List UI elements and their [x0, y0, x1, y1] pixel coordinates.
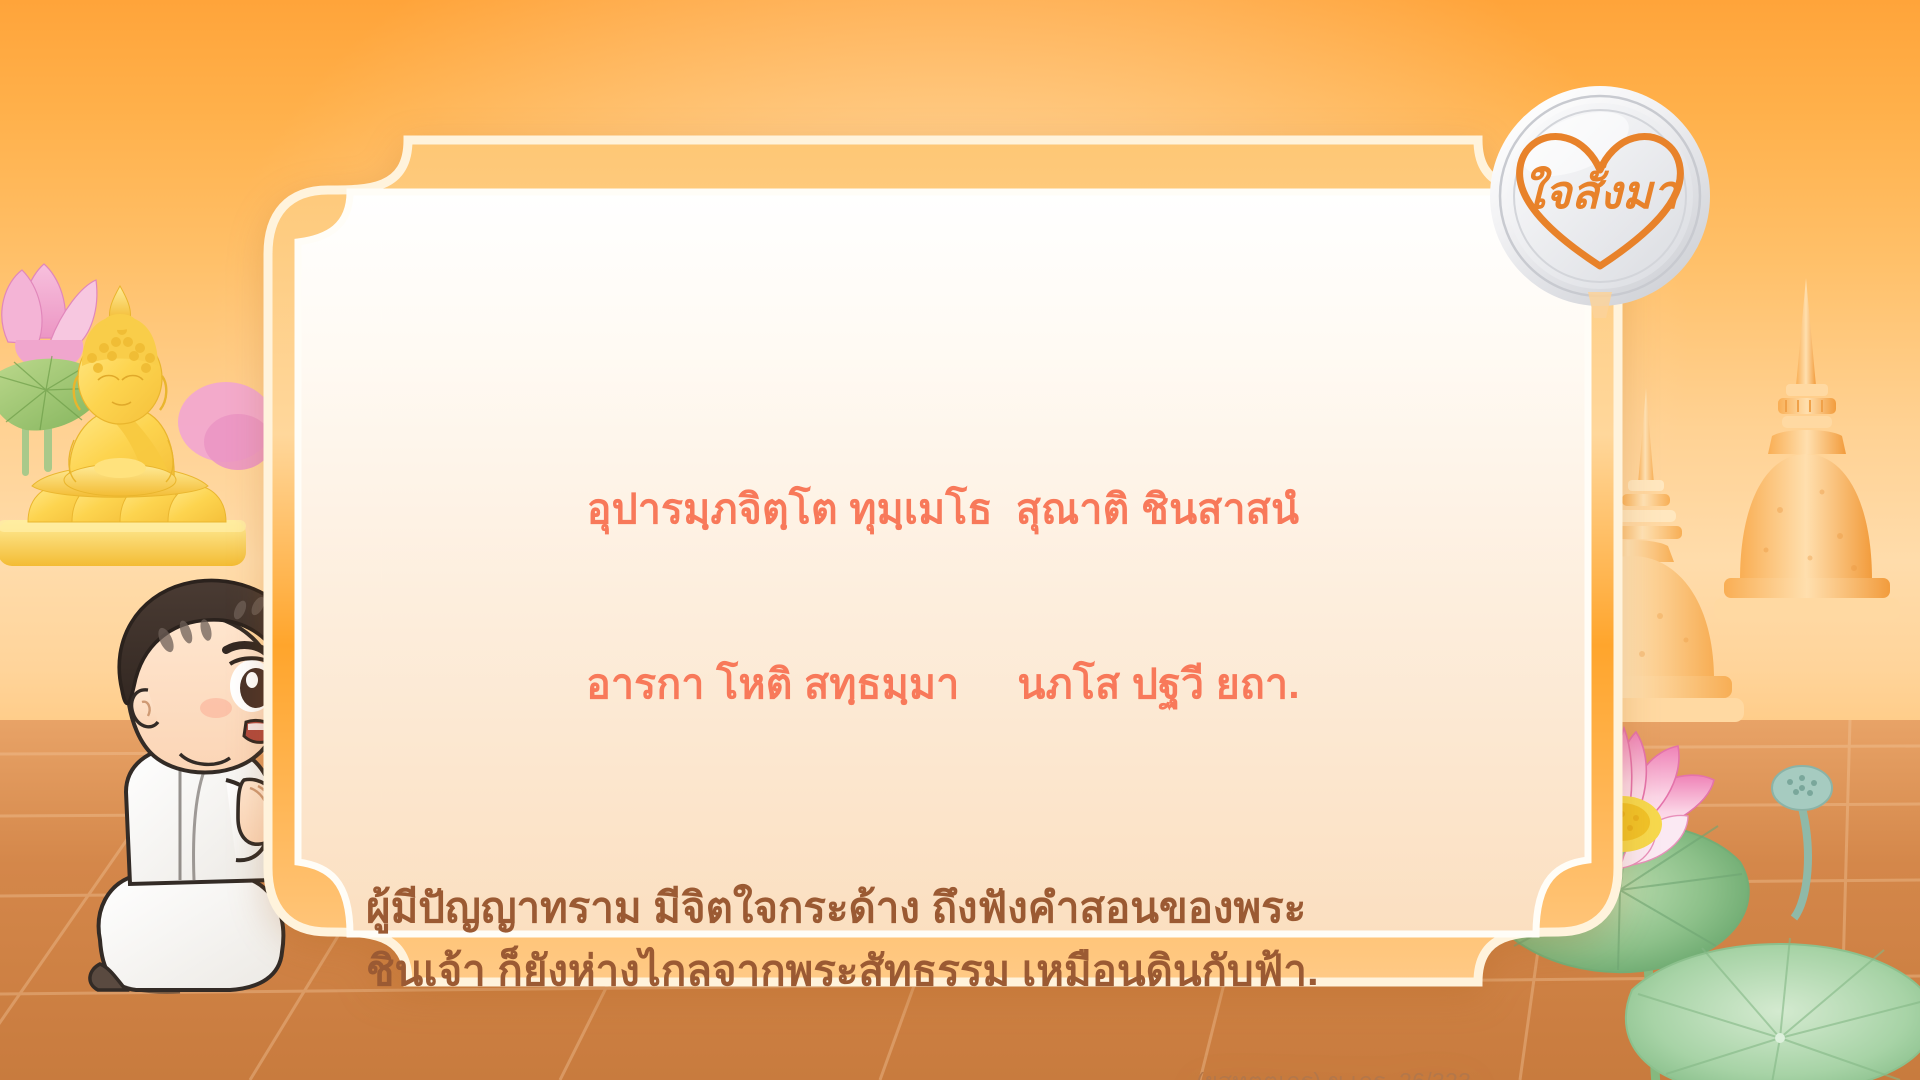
- scripture-reference: (ยสทตฺตเถร) ขุ.เถร. 26/323.: [350, 1064, 1536, 1080]
- jaisangma-logo-badge[interactable]: ใจสั่งมา: [1480, 78, 1720, 318]
- quote-card: อุปารมฺภจิตฺโต ทุมฺเมโธ สุณาติ ชินสาสนํ …: [258, 130, 1628, 992]
- poster-canvas: อุปารมฺภจิตฺโต ทุมฺเมโธ สุณาติ ชินสาสนํ …: [0, 0, 1920, 1080]
- pali-line-2: อารกา โหติ สทฺธมฺมา นภโส ปฐวี ยถา.: [350, 655, 1536, 713]
- pali-verse: อุปารมฺภจิตฺโต ทุมฺเมโธ สุณาติ ชินสาสนํ …: [350, 364, 1536, 830]
- pali-line-1: อุปารมฺภจิตฺโต ทุมฺเมโธ สุณาติ ชินสาสนํ: [350, 480, 1536, 538]
- thai-translation: ผู้มีปัญญาทราม มีจิตใจกระด้าง ถึงฟังคำสอ…: [350, 876, 1536, 1002]
- thai-line-1: ผู้มีปัญญาทราม มีจิตใจกระด้าง ถึงฟังคำสอ…: [366, 876, 1528, 939]
- thai-line-2: ชินเจ้า ก็ยังห่างไกลจากพระสัทธรรม เหมือน…: [366, 939, 1528, 1002]
- logo-text: ใจสั่งมา: [1522, 159, 1680, 218]
- card-content: อุปารมฺภจิตฺโต ทุมฺเมโธ สุณาติ ชินสาสนํ …: [350, 192, 1536, 934]
